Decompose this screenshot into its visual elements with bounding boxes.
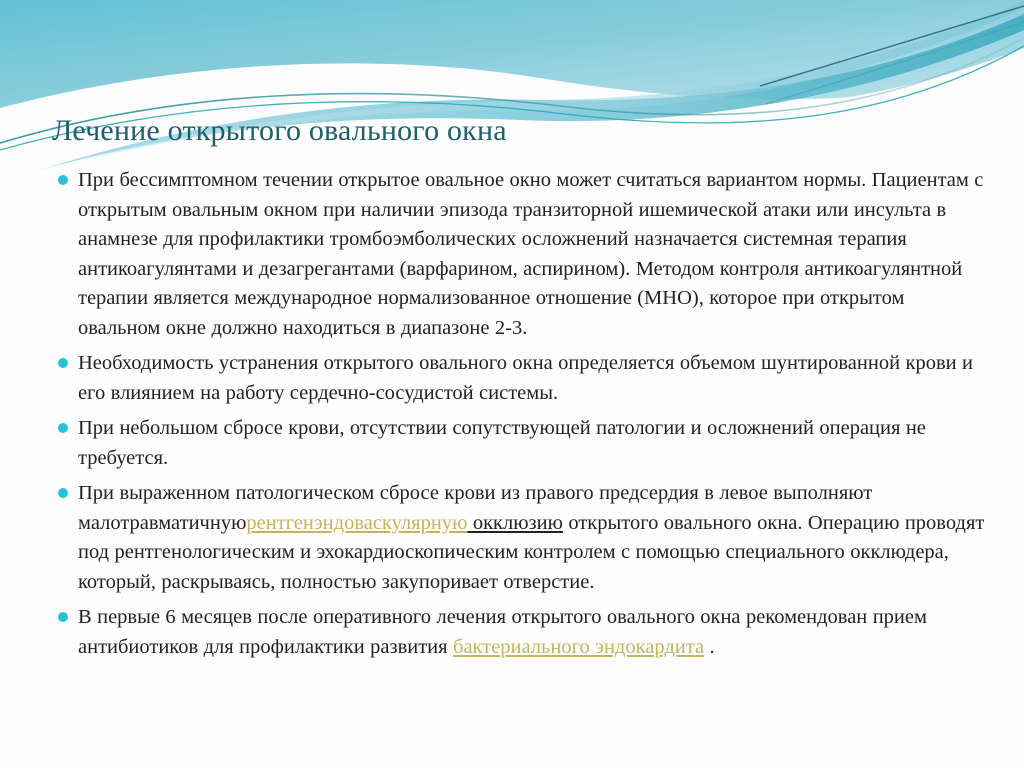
slide-title: Лечение открытого овального окна (52, 112, 952, 150)
bullet-paragraph: При небольшом сбросе крови, отсутствии с… (78, 414, 986, 473)
wave-line-accent-lower (765, 22, 1024, 104)
bullet-paragraph: При выраженном патологическом сбросе кро… (78, 479, 986, 597)
hyperlink[interactable]: рентгенэндоваскулярную (246, 512, 467, 534)
slide-bullet-list: При бессимптомном течении открытое оваль… (56, 166, 986, 668)
text-run: . (704, 636, 715, 658)
bullet-asymptomatic-course: При бессимптомном течении открытое оваль… (56, 166, 986, 343)
bullet-paragraph: В первые 6 месяцев после оперативного ле… (78, 603, 986, 662)
text-run: При небольшом сбросе крови, отсутствии с… (78, 417, 926, 469)
bullet-paragraph: При бессимптомном течении открытое оваль… (78, 166, 986, 343)
bullet-dot-icon (58, 612, 68, 622)
text-run: Необходимость устранения открытого оваль… (78, 352, 973, 404)
bullet-dot-icon (58, 358, 68, 368)
hyperlink[interactable]: бактериального эндокардита (453, 636, 704, 658)
bullet-paragraph: Необходимость устранения открытого оваль… (78, 349, 986, 408)
bullet-small-shunt: При небольшом сбросе крови, отсутствии с… (56, 414, 986, 473)
bullet-need-for-closure: Необходимость устранения открытого оваль… (56, 349, 986, 408)
presentation-slide: Лечение открытого овального окна При бес… (0, 0, 1024, 768)
bullet-dot-icon (58, 488, 68, 498)
bullet-dot-icon (58, 423, 68, 433)
hyperlink-underlined[interactable]: окклюзию (467, 512, 563, 534)
text-run: При бессимптомном течении открытое оваль… (78, 169, 983, 339)
bullet-dot-icon (58, 175, 68, 185)
wave-line-accent-upper (760, 6, 1024, 86)
wave-base-fill (0, 0, 1024, 108)
bullet-postoperative-antibiotics: В первые 6 месяцев после оперативного ле… (56, 603, 986, 662)
bullet-endovascular-occlusion: При выраженном патологическом сбросе кро… (56, 479, 986, 597)
